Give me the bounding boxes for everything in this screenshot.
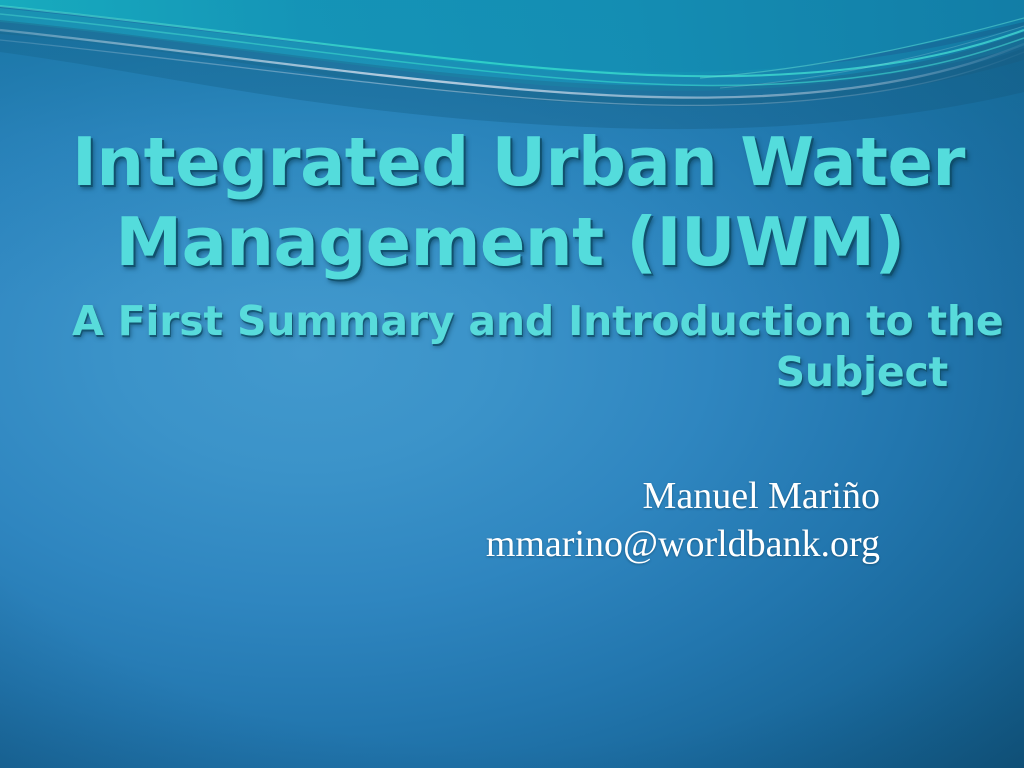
- slide-title: Integrated Urban Water Management (IUWM): [72, 122, 948, 282]
- slide-subtitle-line-1: A First Summary and Introduction to the: [72, 296, 948, 347]
- presentation-slide: Integrated Urban Water Management (IUWM)…: [0, 0, 1024, 768]
- slide-text-layer: Integrated Urban Water Management (IUWM)…: [0, 0, 1024, 768]
- slide-subtitle-line-2: Subject: [72, 347, 948, 398]
- slide-title-line-1: Integrated Urban Water: [72, 122, 948, 202]
- slide-title-line-2: Management (IUWM): [72, 202, 948, 282]
- author-email: mmarino@worldbank.org: [60, 520, 880, 568]
- author-name: Manuel Mariño: [60, 472, 880, 520]
- slide-author-block: Manuel Mariño mmarino@worldbank.org: [60, 472, 880, 568]
- slide-subtitle: A First Summary and Introduction to the …: [72, 296, 948, 398]
